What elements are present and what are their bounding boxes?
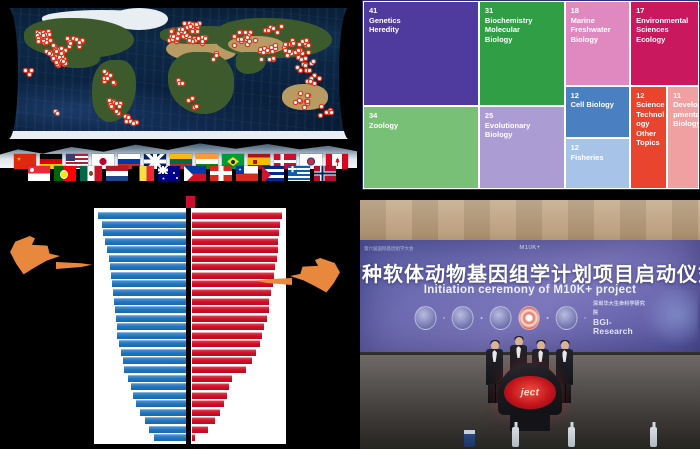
water-bottle [568,427,575,447]
bar-right [192,221,280,228]
separator-dot [547,317,549,319]
shell-silhouette-left [8,236,60,276]
banner-corner-artwork [642,290,698,352]
bar-right [192,298,269,305]
treemap-cell: 34Zoology [363,106,479,189]
bar-left [117,332,186,339]
bar-right [192,366,246,373]
bar-left [124,366,186,373]
composite-figure: 41GeneticsHeredity34Zoology31Biochemistr… [0,0,700,449]
bar-right [192,357,252,364]
bar-left [121,349,186,356]
bar-right [192,340,260,347]
bar-left [145,417,186,424]
bar-right [192,306,269,313]
bgi-research-logo: 深圳华大生命科学研究院 BGI-Research [593,300,645,336]
bar-right [192,409,220,416]
flag-philippines [184,166,206,181]
diverging-bar-chart [92,196,288,449]
flag-switzerland [210,166,232,181]
flag-singapore [28,166,50,181]
map-edge-mask-right [339,8,355,139]
treemap-cell-value: 34 [369,111,473,121]
separator-dot [443,317,445,319]
partner-crest-icon [556,306,578,330]
bar-right [192,289,271,296]
bar-left [123,357,186,364]
shell-tail-left [56,262,92,269]
treemap-cell: 25EvolutionaryBiology [479,106,565,189]
separator-dot [481,317,483,319]
bar-right [192,383,229,390]
bar-left [117,323,187,330]
shell-silhouette-right [290,258,342,294]
chart-top-marker [186,196,195,208]
flag-cuba [262,166,284,181]
bar-left [109,255,186,262]
bar-right [192,417,215,424]
bar-right [192,272,274,279]
bar-right [192,392,227,399]
bar-right [192,323,264,330]
bar-left [116,315,186,322]
bar-right [192,263,275,270]
bar-right [192,426,208,433]
banner-logo: M10K+ [519,245,540,251]
bar-right [192,349,256,356]
bar-left [105,238,186,245]
bar-left [98,212,186,219]
treemap-cell-value: 11 [673,91,693,101]
bar-left [133,392,186,399]
water-bottle [512,427,519,447]
flag-mexico [80,166,102,181]
stage-banner: 第六届国际基因组学大会 M10K+ 万种软体动物基因组学计划项目启动仪式 Ini… [360,240,700,352]
bar-left [131,383,186,390]
treemap-cell: 41GeneticsHeredity [363,1,479,106]
bar-right [192,229,279,236]
treemap-cell: 11DevelopmentaBiology [667,86,699,189]
bar-left [113,289,186,296]
treemap-cell: 12Cell Biology [565,86,631,139]
bar-right [192,246,278,253]
bar-left [115,306,186,313]
treemap-cell: 17EnvironmentalSciencesEcology [630,1,699,86]
treemap-cell-value: 12 [571,91,625,101]
ceremony-photo-panel: 第六届国际基因组学大会 M10K+ 万种软体动物基因组学计划项目启动仪式 Ini… [360,200,700,449]
m10k-target-icon [518,306,540,330]
flag-portugal [54,166,76,181]
chart-center-axis [186,196,191,449]
bar-left [110,263,186,270]
partner-logo-row: 深圳华大生命科学研究院 BGI-Research [415,300,646,336]
banner-title-chinese: 万种软体动物基因组学计划项目启动仪式 [360,258,700,287]
bar-left [154,434,186,441]
flag-norway [314,166,336,181]
treemap-cell: 12ScienceTechnologyOtherTopics [630,86,667,189]
treemap-cell-value: 31 [485,6,559,16]
bar-left [114,298,186,305]
partner-crest-icon [452,306,474,330]
flag-greece [288,166,310,181]
treemap-cell: 12Fisheries [565,138,631,189]
podium-glow-screen: ject [504,376,556,409]
flag-chile [236,166,258,181]
bar-left [107,246,186,253]
world-map-panel [0,0,357,198]
podium-text: ject [521,387,539,398]
treemap-cell-value: 25 [485,111,559,121]
treemap-cell-value: 18 [571,6,625,16]
water-bottle [650,427,657,447]
bar-right [192,434,195,441]
bar-left [111,272,186,279]
separator-dot [584,317,586,319]
bar-left [149,426,186,433]
flag-belgium [132,166,154,181]
partner-crest-icon [489,306,511,330]
treemap-cell-value: 12 [636,91,661,101]
banner-side-sign: 第六届国际基因组学大会 [364,246,414,252]
treemap-cell-value: 12 [571,143,625,153]
bar-right [192,212,282,219]
bar-left [128,375,186,382]
bar-right [192,255,277,262]
bar-left [102,221,187,228]
bar-right [192,238,278,245]
bar-left [103,229,186,236]
bar-right [192,400,224,407]
treemap-cell-value: 17 [636,6,693,16]
bar-right [192,315,267,322]
stage-canister [464,430,475,447]
banner-title-english: Initiation ceremony of M10K+ project [424,284,636,296]
treemap-cell-value: 41 [369,6,473,16]
flag-band [0,138,357,196]
bgi-logo-english: BGI-Research [593,317,633,336]
bar-right [192,332,262,339]
partner-crest-icon [415,306,437,330]
flag-australia [158,166,180,181]
treemap-cell: 18MarineFreshwaterBiology [565,1,631,86]
bar-left [136,400,186,407]
bar-left [112,280,186,287]
bar-right [192,375,232,382]
research-area-treemap: 41GeneticsHeredity34Zoology31Biochemistr… [362,0,700,190]
treemap-cell: 31BiochemistryMolecularBiology [479,1,565,106]
bar-left [140,409,186,416]
bgi-logo-chinese: 深圳华大生命科学研究院 [593,300,645,318]
bar-left [119,340,186,347]
flag-netherlands [106,166,128,181]
